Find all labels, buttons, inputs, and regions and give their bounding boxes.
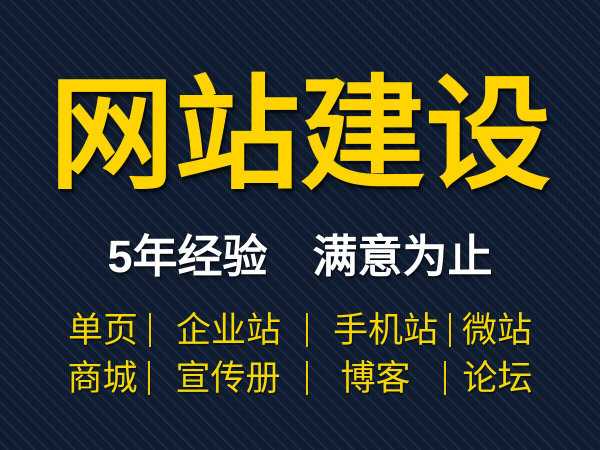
separator-icon	[306, 313, 308, 347]
service-item-shoujizhan[interactable]: 手机站	[333, 313, 438, 348]
service-item-xuanchuance[interactable]: 宣传册	[175, 361, 280, 396]
separator-icon	[449, 313, 451, 347]
service-row-1: 单页 企业站 手机站 微站	[0, 306, 600, 354]
service-row-2: 商城 宣传册 博客 论坛	[0, 354, 600, 402]
service-item-boke[interactable]: 博客	[341, 361, 411, 396]
separator-icon	[148, 361, 150, 395]
tagline: 5年经验 满意为止	[0, 234, 600, 279]
poster-content: 网站建设 5年经验 满意为止 单页 企业站 手机站 微站 商城	[0, 0, 600, 450]
separator-icon	[306, 361, 308, 395]
separator-icon	[149, 313, 151, 347]
promo-poster: 网站建设 5年经验 满意为止 单页 企业站 手机站 微站 商城	[0, 0, 600, 450]
service-item-qiyezhan[interactable]: 企业站	[176, 313, 281, 348]
service-item-weizhan[interactable]: 微站	[462, 313, 532, 348]
service-item-shangcheng[interactable]: 商城	[67, 361, 137, 396]
service-list: 单页 企业站 手机站 微站 商城 宣传册	[0, 306, 600, 402]
separator-icon	[444, 361, 446, 395]
service-item-luntan[interactable]: 论坛	[463, 361, 533, 396]
page-title: 网站建设	[0, 74, 600, 197]
service-item-danye[interactable]: 单页	[68, 313, 138, 348]
